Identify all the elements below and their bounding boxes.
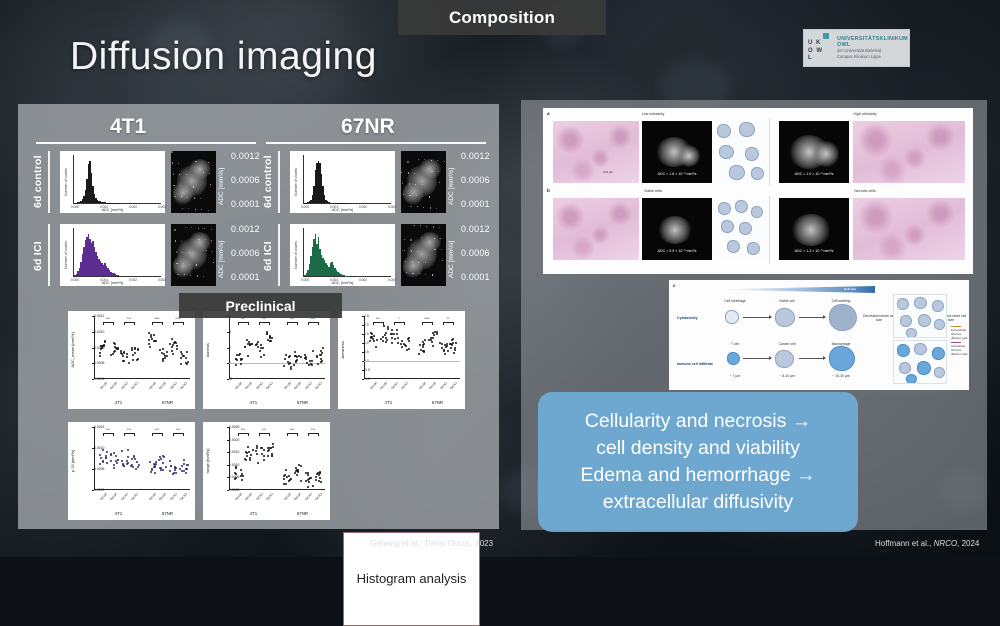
- lesion-blob: [813, 141, 839, 167]
- significance-label: ***: [259, 428, 270, 432]
- scatter-group-label: 67NR: [162, 400, 173, 405]
- scatter-point: [320, 481, 322, 483]
- scatter-point: [134, 352, 136, 354]
- noise-speckle: [406, 272, 407, 273]
- noise-speckle: [423, 207, 424, 208]
- scatter-point: [128, 362, 130, 364]
- histogram-x-label: ADC [mm²/s]: [60, 208, 165, 212]
- panel-c-stage-t-cell: T cell: [715, 342, 755, 346]
- scatter-point: [262, 347, 264, 349]
- scatter-point: [294, 472, 296, 474]
- group-rule-4t1: [36, 142, 256, 144]
- noise-speckle: [190, 275, 191, 276]
- scatter-y-tickmark: [92, 427, 95, 428]
- scatter-point: [433, 334, 435, 336]
- scatter-point: [454, 349, 456, 351]
- scatter-point: [137, 466, 139, 468]
- scatter-point: [110, 454, 112, 456]
- adc-parameter-map-hist-67nr-control: [401, 151, 446, 213]
- scatter-point: [307, 486, 309, 488]
- cell-shape: [721, 220, 734, 233]
- scatter-point: [249, 459, 251, 461]
- scatter-point: [320, 354, 322, 356]
- citation-right-year: , 2024: [957, 539, 979, 548]
- scatter-x-axis: [229, 378, 325, 379]
- significance-tick: [422, 322, 423, 325]
- noise-speckle: [439, 182, 440, 183]
- noise-speckle: [424, 159, 425, 160]
- significance-tick: [453, 322, 454, 325]
- scatter-x-tick-label: 0d ctrl: [283, 381, 292, 390]
- scatter-point: [307, 479, 309, 481]
- scatter-point: [267, 455, 269, 457]
- scatter-point: [316, 355, 318, 357]
- scatter-point: [408, 348, 410, 350]
- noise-speckle: [439, 227, 440, 228]
- panel-a-letter: a: [547, 111, 550, 116]
- scatter-point: [424, 339, 426, 341]
- scatter-point: [240, 469, 242, 471]
- scatter-point: [166, 351, 168, 353]
- scatter-y-label: p 25 [mm²/s]: [70, 450, 75, 472]
- conclusion-box: Cellularity and necrosis → cell density …: [538, 392, 858, 532]
- significance-tick: [248, 433, 249, 436]
- cell-shape: [918, 314, 931, 327]
- scatter-point: [100, 457, 102, 459]
- noise-speckle: [172, 162, 174, 164]
- scatter-point: [163, 456, 165, 458]
- scatter-y-tickmark: [227, 477, 230, 478]
- noise-speckle: [183, 263, 184, 264]
- scatter-point: [382, 340, 384, 342]
- scatter-point: [113, 452, 115, 454]
- logo-uk-line2: O W L: [808, 48, 829, 63]
- row-bar: [278, 224, 280, 286]
- scatter-point: [122, 355, 124, 357]
- scatter-point: [376, 339, 378, 341]
- colorbar-value-mid: 0.0006: [461, 175, 490, 185]
- significance-bar: [173, 433, 184, 434]
- significance-bar: [103, 322, 114, 323]
- panel-b-caption-viable: Viable cells: [553, 189, 753, 193]
- scatter-x-tick-label: 6d ICI: [401, 381, 410, 390]
- colorbar-67nr-ici: ADC [mm²/s] 0.0012 0.0006 0.0001: [448, 224, 506, 286]
- scatter-x-tick-label: 6d ctrl: [379, 381, 388, 390]
- significance-label: *: [394, 317, 405, 321]
- cell-shape: [719, 145, 734, 159]
- scatter-point: [241, 358, 243, 360]
- scatter-x-axis: [94, 489, 190, 490]
- significance-tick: [183, 433, 184, 436]
- adc-value-low-cellularity: ADC = 1.8 × 10⁻³ mm²/s: [642, 172, 712, 176]
- significance-tick: [383, 322, 384, 325]
- scatter-point: [185, 362, 187, 364]
- cell-shape: [932, 300, 944, 312]
- scatter-point: [432, 337, 434, 339]
- cell-size-gradient-label: Cell size: [844, 287, 856, 291]
- scatter-y-axis: [94, 427, 95, 490]
- significance-tick: [259, 433, 260, 436]
- significance-bar: [259, 322, 270, 323]
- significance-tick: [318, 433, 319, 436]
- colorbar-value-low: 0.0001: [231, 272, 260, 282]
- scatter-x-tick-label: 0d ICI: [255, 381, 264, 390]
- scatter-point: [391, 329, 393, 331]
- significance-bar: [259, 433, 270, 434]
- scatter-point: [131, 458, 133, 460]
- row-bar: [48, 224, 50, 286]
- noise-speckle: [410, 239, 412, 241]
- scatter-point: [272, 446, 274, 448]
- scatter-point: [154, 464, 156, 466]
- scatter-point: [396, 329, 398, 331]
- scatter-point: [235, 364, 237, 366]
- significance-tick: [113, 322, 114, 325]
- scatter-point: [181, 465, 183, 467]
- arrow-icon: [743, 358, 771, 359]
- scatter-x-axis: [364, 378, 460, 379]
- scatter-point: [174, 469, 176, 471]
- scatter-point: [387, 326, 389, 328]
- scatter-point: [307, 474, 309, 476]
- panel-b-letter: b: [547, 188, 550, 193]
- scatter-point: [240, 363, 242, 365]
- scatter-point: [162, 358, 164, 360]
- significance-tick: [443, 322, 444, 325]
- scatter-point: [318, 474, 320, 476]
- scatter-point: [434, 331, 436, 333]
- significance-tick: [287, 433, 288, 436]
- significance-tick: [269, 322, 270, 325]
- scatter-point: [382, 336, 384, 338]
- histogram-x-label: ADC [mm²/s]: [290, 208, 395, 212]
- scatter-y-axis: [229, 427, 230, 490]
- scatter-point: [439, 342, 441, 344]
- scatter-point: [154, 472, 156, 474]
- significance-label: ***: [152, 428, 163, 432]
- scatter-point: [446, 345, 448, 347]
- scatter-point: [401, 346, 403, 348]
- scatter-point: [436, 331, 438, 333]
- scatter-point: [172, 353, 174, 355]
- row-label-6d-control-4t1: 6d control: [32, 152, 44, 212]
- scatter-point: [385, 332, 387, 334]
- scatter-point: [257, 346, 259, 348]
- significance-label: ***: [173, 428, 184, 432]
- scatter-point: [159, 349, 161, 351]
- scatter-point: [134, 348, 136, 350]
- scatter-point: [422, 344, 424, 346]
- significance-tick: [269, 433, 270, 436]
- panel-c-stage-cell-shrinkage: Cell shrinkage: [713, 299, 757, 303]
- noise-speckle: [176, 251, 178, 253]
- scatter-x-tick-label: 0d ctrl: [148, 492, 157, 501]
- scatter-y-label: kurtosis: [205, 343, 210, 357]
- scatter-group-label: 4T1: [250, 400, 258, 405]
- significance-bar: [308, 433, 319, 434]
- tissue-panel-increased: [893, 340, 947, 384]
- scatter-point: [293, 364, 295, 366]
- significance-label: ***: [103, 428, 114, 432]
- scatter-x-tick-label: 6d ctrl: [109, 492, 118, 501]
- noise-speckle: [210, 184, 211, 185]
- tumor-region: [419, 232, 441, 252]
- scatter-point: [154, 466, 156, 468]
- scatter-point: [99, 355, 101, 357]
- scatter-point: [169, 460, 171, 462]
- slide-background: Composition Diffusion imaging U K O W L …: [0, 0, 1000, 557]
- citation-left-author: Gerwing et al.,: [370, 539, 424, 548]
- significance-tick: [432, 322, 433, 325]
- noise-speckle: [425, 274, 426, 275]
- scatter-point: [308, 481, 310, 483]
- scatter-point: [431, 341, 433, 343]
- noise-speckle: [173, 173, 175, 175]
- scatter-point: [127, 449, 129, 451]
- scatter-point: [134, 458, 136, 460]
- scatter-group-label: 67NR: [162, 511, 173, 516]
- scatter-group-label: 67NR: [297, 511, 308, 516]
- scatter-point: [397, 342, 399, 344]
- scatter-point: [149, 346, 151, 348]
- scatter-point: [257, 341, 259, 343]
- noise-speckle: [407, 161, 409, 163]
- scatter-point: [162, 462, 164, 464]
- scatter-point: [455, 342, 457, 344]
- significance-tick: [297, 433, 298, 436]
- row-label-6d-ici-4t1: 6d ICI: [32, 232, 44, 280]
- cell-shape: [751, 206, 763, 218]
- significance-tick: [373, 322, 374, 325]
- scatter-point: [106, 451, 108, 453]
- cell-shape: [917, 361, 931, 375]
- scatter-point: [240, 358, 242, 360]
- preclinical-label: Preclinical: [225, 298, 295, 314]
- scatter-point: [256, 447, 258, 449]
- scatter-point: [137, 348, 139, 350]
- scatter-y-tickmark: [92, 316, 95, 317]
- adc-parameter-map-hist-4t1-ici: [171, 224, 216, 286]
- scatter-x-tick-label: 6d ICI: [180, 381, 189, 390]
- scatter-x-tick-label: 0d ctrl: [234, 492, 243, 501]
- histogram-y-label: Number of voxels: [294, 168, 298, 196]
- scatter-point: [300, 356, 302, 358]
- colorbar-label: ADC [mm²/s]: [218, 159, 225, 205]
- scatter-point: [263, 354, 265, 356]
- panel-c-size-macrophage: ~ 10-30 µm: [819, 374, 863, 378]
- colorbar-value-low: 0.0001: [461, 199, 490, 209]
- adc-parameter-map-hist-67nr-ici: [401, 224, 446, 286]
- cell-shape: [932, 347, 945, 360]
- scatter-y-tickmark: [227, 332, 230, 333]
- scatter-point: [401, 340, 403, 342]
- scatter-point: [322, 347, 324, 349]
- cell-viable-icon: [775, 308, 795, 327]
- noise-speckle: [412, 261, 414, 263]
- significance-tick: [152, 433, 153, 436]
- scatter-point: [317, 363, 319, 365]
- scatter-point: [288, 363, 290, 365]
- scatter-point: [113, 342, 115, 344]
- scatter-point: [251, 343, 253, 345]
- histogram-x-axis: [73, 276, 161, 277]
- scatter-point: [183, 463, 185, 465]
- scatter-x-axis: [94, 378, 190, 379]
- scatter-point: [296, 474, 298, 476]
- scatter-point: [164, 357, 166, 359]
- scatter-point: [373, 335, 375, 337]
- scatter-point: [117, 459, 119, 461]
- scatter-x-tick-label: 6d ICI: [131, 492, 140, 501]
- scatter-point: [166, 355, 168, 357]
- histogram-bars: [74, 161, 119, 203]
- scatter-point: [176, 345, 178, 347]
- noise-speckle: [429, 196, 431, 198]
- scatter-point: [309, 360, 311, 362]
- scatter-point: [408, 340, 410, 342]
- group-title-4t1: 4T1: [110, 115, 146, 139]
- panel-a-caption-low: Low cellularity: [553, 112, 753, 116]
- scatter-point: [244, 346, 246, 348]
- scatter-group-label: 4T1: [250, 511, 258, 516]
- scatter-point: [183, 355, 185, 357]
- colorbar-value-high: 0.0012: [231, 224, 260, 234]
- scatter-point: [175, 472, 177, 474]
- scatter-point: [315, 479, 317, 481]
- scatter-y-tickmark: [92, 332, 95, 333]
- scatter-card-scatter-p25: p 25 [mm²/s]0.00150.00100.00050.00000d c…: [68, 422, 195, 520]
- cell-shape: [897, 298, 909, 310]
- scatter-point: [127, 456, 129, 458]
- scatter-point: [257, 462, 259, 464]
- scatter-point: [132, 466, 134, 468]
- scatter-point: [102, 460, 104, 462]
- scatter-point: [113, 351, 115, 353]
- colorbar-label: ADC [mm²/s]: [448, 232, 455, 278]
- scatter-group-label: 4T1: [115, 511, 123, 516]
- scatter-point: [441, 343, 443, 345]
- panel-c-size-cancer-cell: ~ 8-10 µm: [765, 374, 809, 378]
- scatter-point: [269, 447, 271, 449]
- citation-right: Hoffmann et al., NRCO, 2024: [875, 539, 979, 548]
- noise-speckle: [198, 228, 200, 230]
- scatter-point: [373, 340, 375, 342]
- scatter-point: [170, 465, 172, 467]
- scatter-x-tick-label: 0d ctrl: [234, 381, 243, 390]
- scatter-point: [187, 361, 189, 363]
- scatter-point: [300, 480, 302, 482]
- scatter-point: [132, 359, 134, 361]
- noise-speckle: [197, 275, 199, 277]
- scatter-point: [99, 454, 101, 456]
- scatter-point: [162, 469, 164, 471]
- scatter-x-tick-label: 0d ctrl: [283, 492, 292, 501]
- noise-speckle: [431, 160, 433, 162]
- scatter-card-scatter-range: range [mm²/s]0.00250.00200.00150.00100.0…: [203, 422, 330, 520]
- scatter-point: [391, 337, 393, 339]
- scatter-point: [155, 340, 157, 342]
- noise-speckle: [409, 195, 411, 197]
- scatter-x-axis: [229, 489, 325, 490]
- significance-tick: [162, 322, 163, 325]
- scatter-point: [312, 350, 314, 352]
- scatter-x-tick-label: 0d ICI: [169, 492, 178, 501]
- scatter-point: [263, 449, 265, 451]
- scatter-point: [113, 467, 115, 469]
- scatter-point: [305, 358, 307, 360]
- significance-tick: [287, 322, 288, 325]
- scatter-point: [252, 449, 254, 451]
- colorbar-label: ADC [mm²/s]: [218, 232, 225, 278]
- noise-speckle: [195, 209, 197, 211]
- noise-speckle: [185, 227, 186, 228]
- scatter-point: [375, 346, 377, 348]
- histogram-bar: [118, 275, 120, 276]
- significance-label: ***: [124, 317, 135, 321]
- university-logo: U K O W L UNIVERSITÄTSKLINIKUM OWL der U…: [803, 29, 910, 67]
- scatter-x-tick-label: 0d ICI: [120, 381, 129, 390]
- significance-tick: [404, 322, 405, 325]
- noise-speckle: [421, 237, 422, 238]
- scatter-point: [450, 347, 452, 349]
- cell-shape: [751, 167, 764, 180]
- scatter-point: [171, 338, 173, 340]
- scatter-point: [408, 337, 410, 339]
- histology-he-low-cellularity: [553, 121, 639, 183]
- scatter-point: [153, 334, 155, 336]
- histogram-bars: [74, 234, 119, 276]
- scatter-x-tick-label: 6d ctrl: [158, 492, 167, 501]
- scatter-point: [255, 450, 257, 452]
- scatter-y-tickmark: [362, 352, 365, 353]
- significance-label: ***: [103, 317, 114, 321]
- scatter-point: [103, 344, 105, 346]
- scatter-point: [436, 333, 438, 335]
- scatter-point: [321, 360, 323, 362]
- scatter-group-label: 67NR: [432, 400, 443, 405]
- scatter-point: [370, 332, 372, 334]
- panel-b-caption-necrotic: Necrotic cells: [765, 189, 965, 193]
- panel-c-letter: c: [673, 283, 676, 288]
- scatter-point: [114, 343, 116, 345]
- panel-c-row2-label: Immune cell infiltrate: [677, 362, 713, 366]
- scatter-point: [126, 460, 128, 462]
- scatter-point: [136, 461, 138, 463]
- scatter-x-tick-label: 6d ctrl: [428, 381, 437, 390]
- noise-speckle: [409, 183, 411, 185]
- histogram-y-label: Number of voxels: [64, 168, 68, 196]
- scale-bar-label: 100 µm: [603, 170, 613, 174]
- noise-speckle: [201, 209, 202, 210]
- scatter-y-label: range [mm²/s]: [205, 449, 210, 474]
- scatter-x-tick-label: 6d ICI: [180, 492, 189, 501]
- cell-shape: [745, 147, 759, 161]
- legend-extracellular: Extracellular effective diffusion path: [951, 328, 969, 340]
- significance-tick: [134, 322, 135, 325]
- colorbar-value-mid: 0.0006: [461, 248, 490, 258]
- noise-speckle: [415, 184, 416, 185]
- colorbar-4t1-ici: ADC [mm²/s] 0.0012 0.0006 0.0001: [218, 224, 276, 286]
- cancer-cell-icon: [775, 350, 794, 368]
- histogram-x-label: ADC [mm²/s]: [290, 281, 395, 285]
- noise-speckle: [211, 229, 212, 230]
- logo-name: UNIVERSITÄTSKLINIKUM OWL: [837, 36, 908, 48]
- significance-tick: [394, 322, 395, 325]
- scatter-point: [271, 455, 273, 457]
- scatter-x-tick-label: 0d ctrl: [99, 381, 108, 390]
- scatter-point: [126, 353, 128, 355]
- histogram-x-axis: [303, 203, 391, 204]
